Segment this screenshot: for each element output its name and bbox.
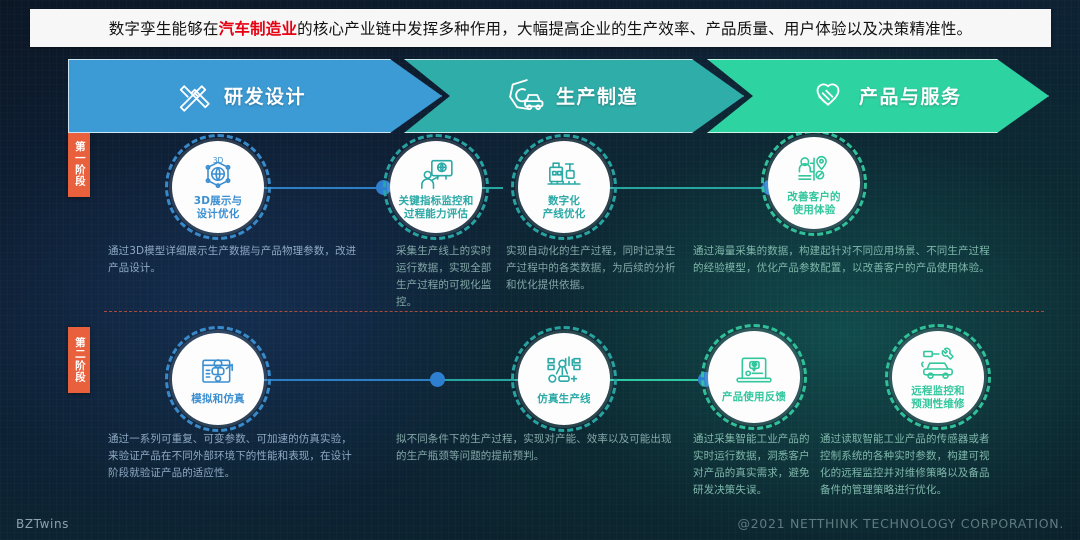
footer-brand: BZTwins [16, 517, 69, 531]
footer-copyright: @2021 NETTHINK TECHNOLOGY CORPORATION. [737, 516, 1064, 531]
ruler-pencil-icon [172, 74, 214, 116]
page-title: 数字孪生能够在汽车制造业的核心产业链中发挥多种作用，大幅提高企业的生产效率、产品… [109, 17, 973, 39]
title-after: 的核心产业链中发挥多种作用，大幅提高企业的生产效率、产品质量、用户体验以及决策精… [297, 20, 972, 38]
node-circle: 3D 3D展示与设计优化 [172, 141, 264, 233]
node-customer-experience[interactable]: 改善客户的使用体验 [768, 137, 860, 229]
simulation-vr-icon [198, 352, 238, 392]
monitor-person-icon [416, 154, 456, 194]
content-rows: 第一阶段 3D [68, 125, 1047, 513]
node-circle: 改善客户的使用体验 [768, 137, 860, 229]
node-title: 数字化产线优化 [543, 195, 586, 219]
stage-row-2: 第二阶段 [68, 321, 1047, 513]
node-title: 改善客户的使用体验 [787, 191, 841, 215]
node-title: 关键指标监控和过程能力评估 [399, 195, 474, 219]
cube-3d-globe-icon: 3D [198, 154, 238, 194]
node-description: 通过读取智能工业产品的传感器或者控制系统的各种实时参数，构建可视化的远程监控并对… [820, 431, 1000, 499]
customer-map-icon [794, 150, 834, 190]
stage-tag-2: 第二阶段 [68, 327, 90, 393]
phase-arrow-product-service[interactable]: 产品与服务 [707, 59, 1047, 131]
connector-dot [430, 372, 445, 387]
robot-arm-icon [544, 352, 584, 392]
title-before: 数字孪生能够在 [109, 20, 219, 38]
node-title: 仿真生产线 [537, 393, 591, 405]
node-title: 远程监控和预测性维修 [911, 385, 965, 409]
node-title: 模拟和仿真 [191, 393, 245, 405]
node-title: 产品使用反馈 [722, 391, 786, 403]
connector-line [436, 379, 518, 381]
node-title: 3D展示与设计优化 [194, 195, 243, 219]
car-wrench-icon [918, 344, 958, 384]
row-divider [104, 311, 1044, 312]
node-description: 拟不同条件下的生产过程，实现对产能、效率以及可能出现的生产瓶颈等问题的提前预判。 [396, 431, 672, 465]
title-highlight: 汽车制造业 [219, 20, 298, 38]
node-description: 通过采集智能工业产品的实时运行数据，洞悉客户对产品的真实需求，避免研发决策失误。 [693, 431, 813, 499]
node-3d-display-design[interactable]: 3D 3D展示与设计优化 [172, 141, 264, 233]
title-banner: 数字孪生能够在汽车制造业的核心产业链中发挥多种作用，大幅提高企业的生产效率、产品… [30, 9, 1051, 47]
phase-label: 生产制造 [556, 82, 638, 109]
node-description: 采集生产线上的实时运行数据，实现全部生产过程的可视化监控。 [396, 243, 494, 311]
phase-arrow-research-design[interactable]: 研发设计 [68, 59, 440, 131]
svg-text:3D: 3D [213, 156, 224, 165]
laptop-feedback-icon [734, 350, 774, 390]
phase-arrow-band: 研发设计 生产制造 [0, 59, 1080, 131]
stage-tag-1: 第一阶段 [68, 131, 90, 197]
factory-line-icon [544, 154, 584, 194]
node-circle: 关键指标监控和过程能力评估 [390, 141, 482, 233]
node-description: 通过海量采集的数据，构建起针对不同应用场景、不同生产过程的经验模型，优化产品参数… [693, 243, 997, 277]
node-digital-line-optimization[interactable]: 数字化产线优化 [518, 141, 610, 233]
car-gauge-icon [504, 74, 546, 116]
node-circle: 远程监控和预测性维修 [892, 331, 984, 423]
phase-label: 产品与服务 [859, 82, 962, 109]
handshake-icon [807, 74, 849, 116]
node-circle: 产品使用反馈 [708, 331, 800, 423]
node-circle: 数字化产线优化 [518, 141, 610, 233]
node-simulation[interactable]: 模拟和仿真 [172, 333, 264, 425]
phase-label: 研发设计 [224, 82, 306, 109]
node-description: 通过3D模型详细展示生产数据与产品物理参数，改进产品设计。 [108, 243, 358, 277]
node-kpi-monitoring[interactable]: 关键指标监控和过程能力评估 [390, 141, 482, 233]
node-description: 通过一系列可重复、可变参数、可加速的仿真实验，来验证产品在不同外部环境下的性能和… [108, 431, 360, 482]
node-simulated-production-line[interactable]: 仿真生产线 [518, 333, 610, 425]
phase-arrow-manufacturing[interactable]: 生产制造 [404, 59, 742, 131]
node-product-feedback[interactable]: 产品使用反馈 [708, 331, 800, 423]
node-circle: 模拟和仿真 [172, 333, 264, 425]
stage-row-1: 第一阶段 3D [68, 125, 1047, 313]
node-description: 实现自动化的生产过程，同时记录生产过程中的各类数据，为后续的分析和优化提供依据。 [506, 243, 686, 294]
node-remote-monitoring-maintenance[interactable]: 远程监控和预测性维修 [892, 331, 984, 423]
slide-canvas: 数字孪生能够在汽车制造业的核心产业链中发挥多种作用，大幅提高企业的生产效率、产品… [0, 0, 1080, 540]
node-circle: 仿真生产线 [518, 333, 610, 425]
